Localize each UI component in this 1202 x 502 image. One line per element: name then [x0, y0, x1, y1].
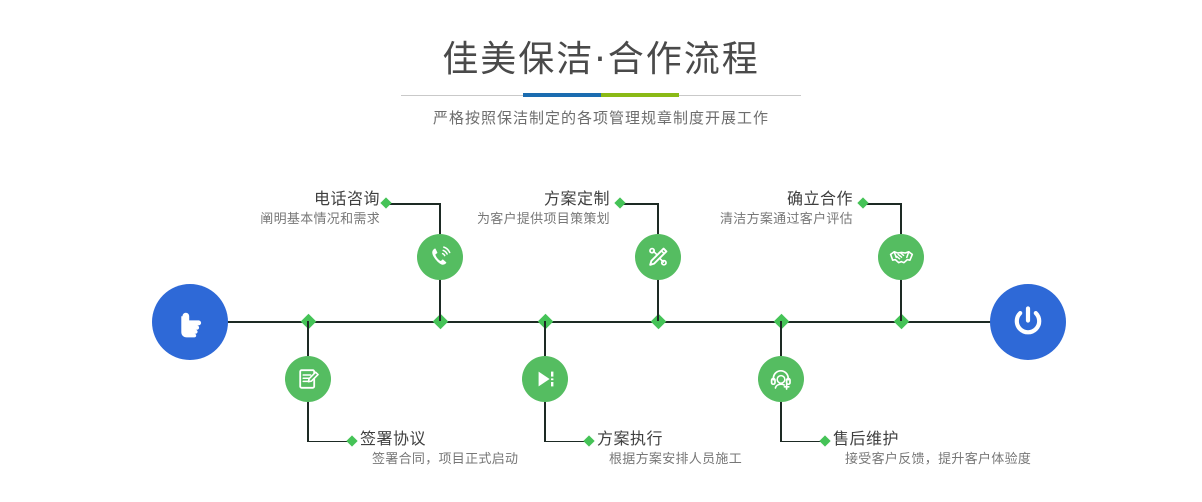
step-name-5: 确立合作: [411, 188, 853, 210]
timeline-end-node[interactable]: [990, 284, 1066, 360]
step-icon-circle-6[interactable]: [758, 356, 804, 402]
step-desc-5: 清洁方案通过客户评估: [411, 210, 853, 230]
step-desc-6: 接受客户反馈，提升客户体验度: [845, 450, 1202, 470]
step-stem-4: [544, 321, 546, 356]
pointing-hand-icon: [170, 302, 210, 342]
step-stem-6: [780, 321, 782, 356]
step-icon-circle-3[interactable]: [635, 234, 681, 280]
step-icon-circle-2[interactable]: [285, 356, 331, 402]
timeline: 电话咨询 阐明基本情况和需求: [0, 0, 1202, 502]
step-name-6: 售后维护: [833, 428, 1202, 450]
timeline-start-node[interactable]: [152, 284, 228, 360]
step-label-5: 确立合作 清洁方案通过客户评估: [411, 188, 853, 230]
step-stem-2: [307, 321, 309, 356]
phone-call-icon: [427, 244, 453, 270]
flow-infographic: 佳美保洁·合作流程 严格按照保洁制定的各项管理规章制度开展工作: [0, 0, 1202, 502]
skip-forward-icon: [532, 366, 558, 392]
step-icon-circle-4[interactable]: [522, 356, 568, 402]
step-label-6: 售后维护 接受客户反馈，提升客户体验度: [833, 428, 1202, 470]
headset-support-icon: [768, 366, 794, 392]
power-icon: [1007, 301, 1049, 343]
handshake-icon: [888, 244, 915, 271]
step-icon-circle-1[interactable]: [417, 234, 463, 280]
document-pen-icon: [295, 366, 321, 392]
step-icon-circle-5[interactable]: [878, 234, 924, 280]
pencil-design-icon: [645, 244, 671, 270]
